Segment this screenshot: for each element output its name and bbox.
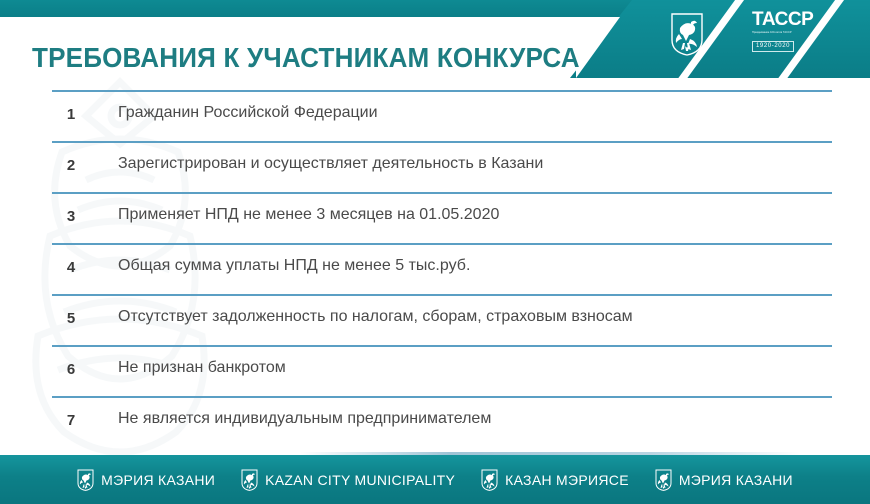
row-number: 5 [58, 310, 84, 327]
row-divider [52, 396, 832, 398]
row-number: 6 [58, 361, 84, 378]
footer-label: МЭРИЯ КАЗАНИ [101, 472, 215, 488]
footer-label: KAZAN CITY MUNICIPALITY [265, 472, 455, 488]
list-item: 7 Не является индивидуальным предпринима… [0, 396, 870, 447]
row-divider [52, 192, 832, 194]
footer-label: МЭРИЯ КАЗАНИ [679, 472, 793, 488]
slide-header: ТАССР Празднование 100-летия ТАССР 1920-… [0, 0, 870, 78]
kazan-zilant-coat-of-arms-icon [670, 12, 704, 56]
row-number: 4 [58, 259, 84, 276]
footer-item-kazan-meriyase: КАЗАН МЭРИЯСЕ [481, 469, 629, 491]
tassr-caption: Празднование 100-летия ТАССР [752, 31, 824, 34]
list-item: 5 Отсутствует задолженность по налогам, … [0, 294, 870, 345]
list-item: 1 Гражданин Российской Федерации [0, 90, 870, 141]
kazan-zilant-coat-of-arms-icon [481, 469, 498, 491]
row-text: Не является индивидуальным предпринимате… [118, 410, 491, 428]
list-item: 3 Применяет НПД не менее 3 месяцев на 01… [0, 192, 870, 243]
kazan-zilant-coat-of-arms-icon [77, 469, 94, 491]
list-item: 2 Зарегистрирован и осуществляет деятель… [0, 141, 870, 192]
tassr-anniversary-logo: ТАССР Празднование 100-летия ТАССР 1920-… [752, 10, 838, 56]
row-divider [52, 141, 832, 143]
header-top-band [0, 0, 640, 17]
kazan-zilant-coat-of-arms-icon [241, 469, 258, 491]
row-text: Отсутствует задолженность по налогам, сб… [118, 308, 633, 326]
list-item: 6 Не признан банкротом [0, 345, 870, 396]
slide-canvas: ТАССР Празднование 100-летия ТАССР 1920-… [0, 0, 870, 504]
kazan-zilant-coat-of-arms-icon [655, 469, 672, 491]
tassr-years: 1920-2020 [752, 41, 794, 52]
row-number: 2 [58, 157, 84, 174]
footer-item-meriya-kazani-1: МЭРИЯ КАЗАНИ [77, 469, 215, 491]
row-divider [52, 243, 832, 245]
row-text: Не признан банкротом [118, 359, 286, 377]
footer-label: КАЗАН МЭРИЯСЕ [505, 472, 629, 488]
row-divider [52, 345, 832, 347]
row-number: 7 [58, 412, 84, 429]
row-text: Применяет НПД не менее 3 месяцев на 01.0… [118, 206, 499, 224]
footer-item-meriya-kazani-2: МЭРИЯ КАЗАНИ [655, 469, 793, 491]
row-number: 1 [58, 106, 84, 123]
row-text: Общая сумма уплаты НПД не менее 5 тыс.ру… [118, 257, 470, 275]
row-text: Зарегистрирован и осуществляет деятельно… [118, 155, 543, 173]
footer-item-kazan-city-municipality: KAZAN CITY MUNICIPALITY [241, 469, 455, 491]
row-divider [52, 90, 832, 92]
slide-footer: МЭРИЯ КАЗАНИ KAZAN CITY MUN [0, 455, 870, 504]
list-item: 4 Общая сумма уплаты НПД не менее 5 тыс.… [0, 243, 870, 294]
page-title: ТРЕБОВАНИЯ К УЧАСТНИКАМ КОНКУРСА [32, 42, 580, 74]
tassr-wordmark: ТАССР [752, 10, 838, 29]
requirements-list: 1 Гражданин Российской Федерации 2 Зарег… [0, 90, 870, 447]
row-divider [52, 294, 832, 296]
row-text: Гражданин Российской Федерации [118, 104, 378, 122]
row-number: 3 [58, 208, 84, 225]
